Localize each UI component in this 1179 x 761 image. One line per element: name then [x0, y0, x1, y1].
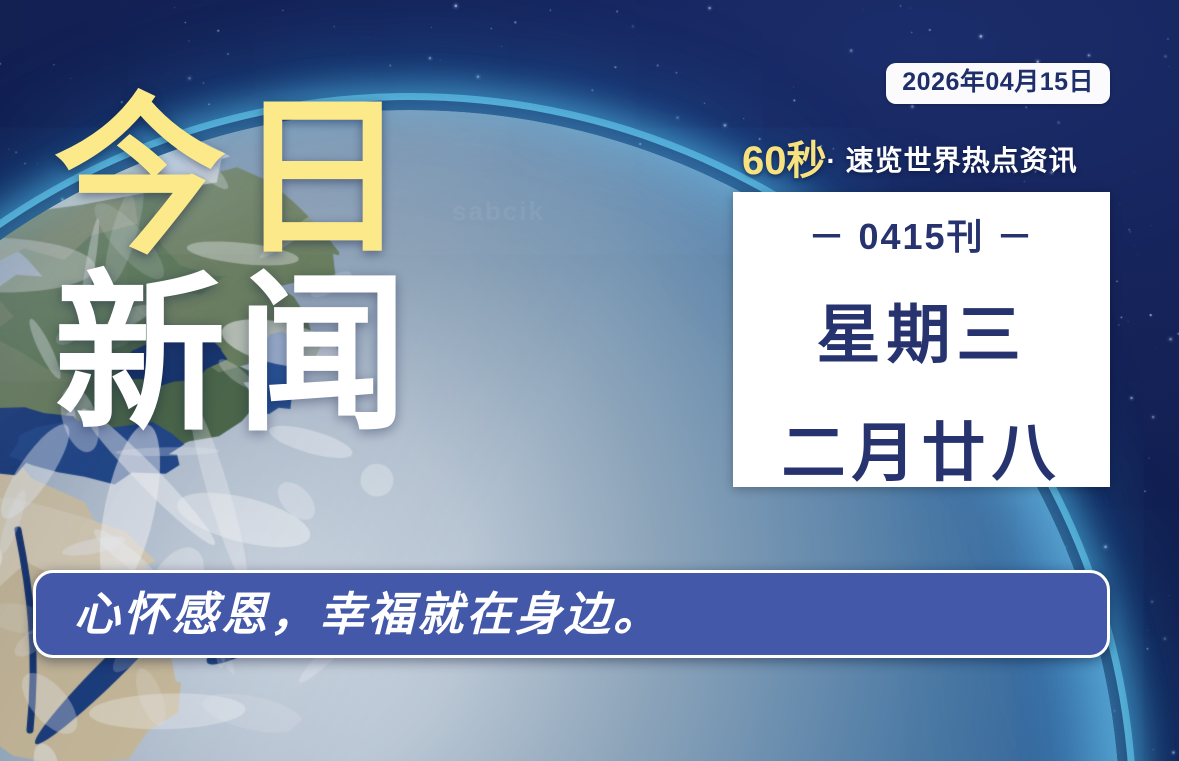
quote-text: 心怀感恩，幸福就在身边。: [74, 591, 662, 637]
tagline: 60秒· 速览世界热点资讯: [742, 141, 1078, 181]
tagline-rest: · 速览世界热点资讯: [827, 145, 1078, 176]
title-line-news: 新闻: [54, 273, 418, 438]
lunar-date-label: 二月廿八: [782, 402, 1062, 494]
poster-title: 今日 新闻: [54, 96, 418, 438]
date-badge: 2026年04月15日: [886, 63, 1110, 104]
tagline-seconds: 60秒: [742, 139, 827, 183]
quote-banner: 心怀感恩，幸福就在身边。: [33, 570, 1110, 658]
news-poster: sabcik 今日 新闻 2026年04月15日 60秒· 速览世界热点资讯 －…: [0, 0, 1179, 761]
issue-number: － 0415刊 －: [808, 208, 1034, 260]
title-line-today: 今日: [54, 96, 418, 261]
info-card: － 0415刊 － 星期三 二月廿八: [733, 192, 1110, 487]
weekday-label: 星期三: [817, 284, 1027, 376]
